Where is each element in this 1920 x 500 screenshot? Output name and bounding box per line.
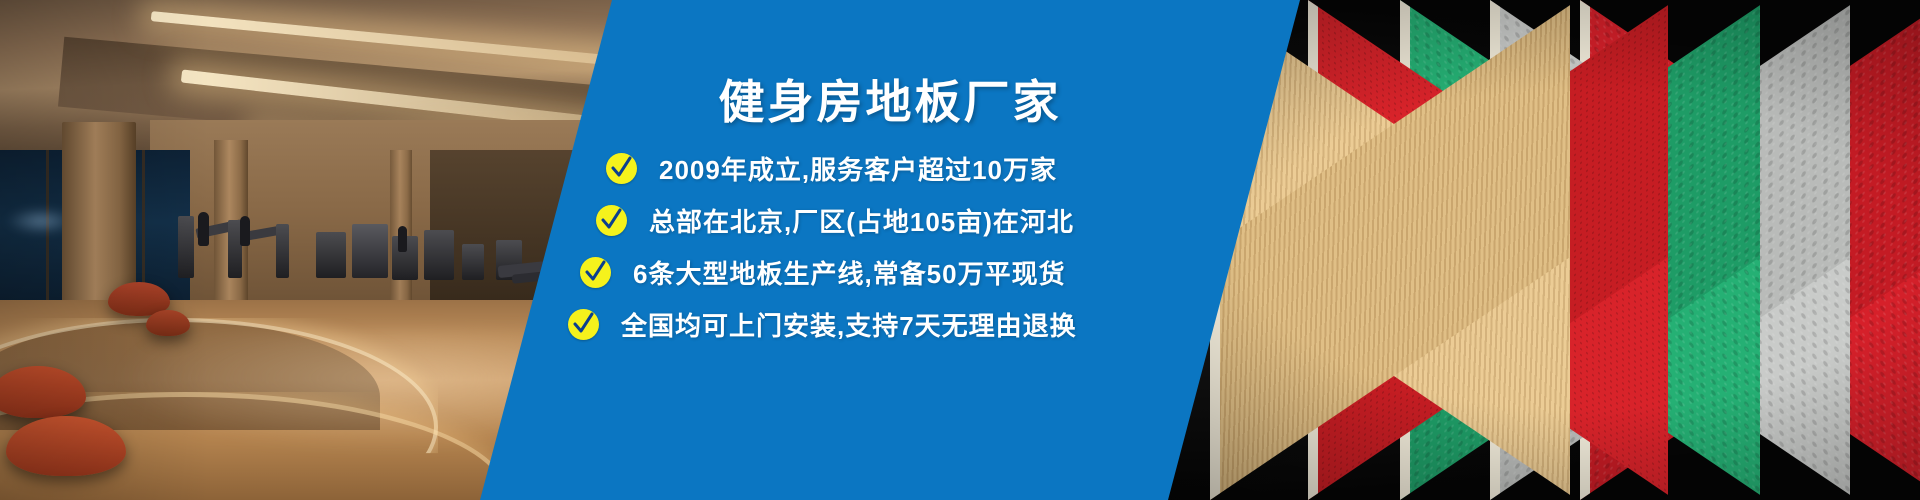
check-circle-icon bbox=[580, 257, 611, 288]
check-circle-icon bbox=[606, 153, 637, 184]
blue-content-panel: 健身房地板厂家 2009年成立,服务客户超过10万家 总部在北京,厂区(占地10… bbox=[480, 0, 1300, 500]
list-item: 全国均可上门安装,支持7天无理由退换 bbox=[480, 298, 1300, 350]
check-circle-icon bbox=[596, 205, 627, 236]
list-item-label: 6条大型地板生产线,常备50万平现货 bbox=[633, 254, 1066, 291]
promo-banner: 健身房地板厂家 2009年成立,服务客户超过10万家 总部在北京,厂区(占地10… bbox=[0, 0, 1920, 500]
page-title: 健身房地板厂家 bbox=[480, 66, 1300, 132]
list-item-label: 全国均可上门安装,支持7天无理由退换 bbox=[621, 306, 1077, 343]
list-item: 总部在北京,厂区(占地105亩)在河北 bbox=[480, 194, 1300, 246]
list-item: 2009年成立,服务客户超过10万家 bbox=[480, 142, 1300, 194]
check-circle-icon bbox=[568, 309, 599, 340]
list-item: 6条大型地板生产线,常备50万平现货 bbox=[480, 246, 1300, 298]
feature-list: 2009年成立,服务客户超过10万家 总部在北京,厂区(占地105亩)在河北 6… bbox=[480, 142, 1300, 350]
list-item-label: 2009年成立,服务客户超过10万家 bbox=[659, 150, 1057, 187]
list-item-label: 总部在北京,厂区(占地105亩)在河北 bbox=[649, 202, 1074, 239]
